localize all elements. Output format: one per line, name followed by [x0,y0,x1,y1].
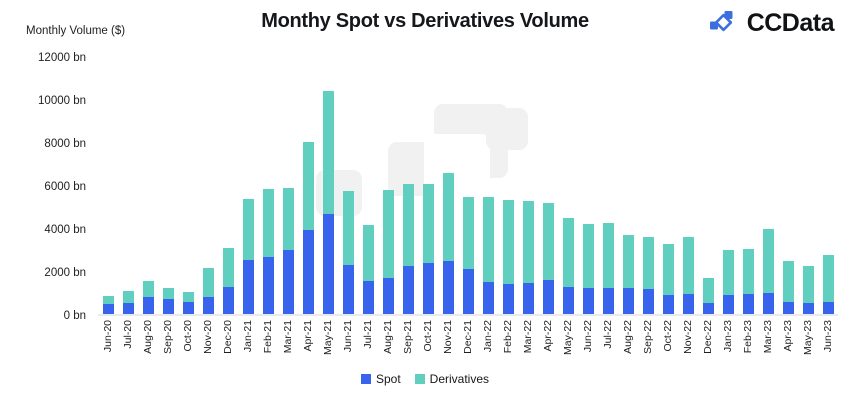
bar-stack[interactable] [443,173,454,314]
bar-segment-spot[interactable] [183,302,194,314]
bar-segment-spot[interactable] [303,230,314,314]
bar-stack[interactable] [783,261,794,314]
x-axis-tick: Sep-21 [398,320,418,372]
bar-column[interactable] [98,58,118,314]
bar-stack[interactable] [803,266,814,314]
x-axis-tick-label: Nov-21 [442,320,454,354]
bar-column[interactable] [678,58,698,314]
bar-column[interactable] [158,58,178,314]
x-axis-tick: Jun-23 [818,320,838,372]
bar-column[interactable] [518,58,538,314]
y-axis-tick-label: 6000 bn [44,181,86,193]
bar-column[interactable] [538,58,558,314]
bar-column[interactable] [238,58,258,314]
bar-segment-spot[interactable] [163,299,174,314]
bar-segment-derivatives[interactable] [123,291,134,304]
bar-segment-derivatives[interactable] [783,261,794,303]
bar-segment-spot[interactable] [543,280,554,314]
legend-item[interactable]: Derivatives [415,372,489,386]
bar-stack[interactable] [623,235,634,314]
bar-stack[interactable] [243,199,254,314]
bar-segment-derivatives[interactable] [163,288,174,299]
x-axis-tick-label: Dec-20 [222,320,234,354]
x-axis-tick-label: Sep-20 [162,320,174,354]
x-axis-tick: Aug-20 [138,320,158,372]
x-axis-tick-label: Sep-22 [642,320,654,354]
bar-column[interactable] [598,58,618,314]
x-axis-tick: Oct-22 [658,320,678,372]
x-axis-tick-label: Apr-23 [782,320,794,352]
y-axis-tick-label: 2000 bn [44,267,86,279]
y-axis-tick-label: 4000 bn [44,224,86,236]
bar-segment-spot[interactable] [223,287,234,314]
bar-stack[interactable] [823,255,834,314]
x-axis-tick-label: Dec-22 [702,320,714,354]
bar-segment-spot[interactable] [663,295,674,314]
bar-segment-spot[interactable] [203,297,214,314]
bar-segment-derivatives[interactable] [263,189,274,257]
bar-column[interactable] [478,58,498,314]
x-axis-tick: Aug-21 [378,320,398,372]
bar-segment-spot[interactable] [343,265,354,314]
x-axis-tick: Jun-20 [98,320,118,372]
x-axis-tick: Feb-22 [498,320,518,372]
bar-segment-spot[interactable] [243,260,254,314]
x-axis-tick: Feb-23 [738,320,758,372]
bar-segment-derivatives[interactable] [343,191,354,265]
bar-segment-derivatives[interactable] [563,218,574,287]
bar-segment-derivatives[interactable] [203,268,214,297]
x-axis-tick: May-23 [798,320,818,372]
x-axis-tick-label: Feb-21 [262,320,274,353]
bar-stack[interactable] [503,200,514,314]
x-axis-tick: Apr-22 [538,320,558,372]
x-axis-tick-label: Mar-22 [522,320,534,353]
legend-label: Derivatives [430,372,489,386]
bar-segment-derivatives[interactable] [763,229,774,293]
x-axis-tick-label: Oct-21 [422,320,434,352]
bar-segment-spot[interactable] [783,302,794,314]
bar-segment-derivatives[interactable] [143,281,154,297]
bar-column[interactable] [738,58,758,314]
bar-segment-spot[interactable] [443,261,454,314]
x-axis-tick-label: Aug-22 [622,320,634,354]
bar-segment-derivatives[interactable] [223,248,234,287]
x-axis-tick: May-21 [318,320,338,372]
bar-segment-derivatives[interactable] [743,249,754,294]
y-axis-tick-label: 8000 bn [44,138,86,150]
x-axis-tick-label: Aug-21 [382,320,394,354]
bar-stack[interactable] [763,229,774,314]
bar-stack[interactable] [103,296,114,314]
bar-column[interactable] [638,58,658,314]
x-axis-tick-label: Apr-21 [302,320,314,352]
x-axis-tick-label: Jun-23 [822,320,834,352]
bar-stack[interactable] [203,268,214,314]
bar-segment-spot[interactable] [503,284,514,314]
bar-segment-spot[interactable] [763,293,774,314]
x-axis-tick: Apr-21 [298,320,318,372]
bar-segment-derivatives[interactable] [683,237,694,294]
bar-segment-spot[interactable] [823,302,834,314]
bar-column[interactable] [818,58,838,314]
bar-segment-spot[interactable] [123,303,134,314]
bar-segment-derivatives[interactable] [363,225,374,280]
bar-segment-derivatives[interactable] [383,190,394,277]
legend-swatch [415,374,425,384]
x-axis-tick: Mar-22 [518,320,538,372]
ccdata-logo: CCData [708,8,834,38]
bar-segment-derivatives[interactable] [503,200,514,284]
bar-column[interactable] [298,58,318,314]
bar-column[interactable] [658,58,678,314]
x-axis-tick-label: Jul-22 [602,320,614,349]
bar-column[interactable] [778,58,798,314]
bar-segment-spot[interactable] [743,294,754,314]
bar-stack[interactable] [403,184,414,314]
bar-segment-spot[interactable] [563,287,574,314]
chart-screenshot: Monthly Volume ($) Monthy Spot vs Deriva… [0,0,850,403]
bar-stack[interactable] [523,201,534,314]
bar-stack[interactable] [363,225,374,314]
bar-segment-derivatives[interactable] [523,201,534,283]
x-axis-tick: Jun-21 [338,320,358,372]
legend-item[interactable]: Spot [361,372,401,386]
y-axis-tick-label: 12000 bn [38,52,86,64]
bar-segment-spot[interactable] [363,281,374,314]
x-axis-tick: Jan-22 [478,320,498,372]
x-axis-tick: May-22 [558,320,578,372]
x-axis-tick-label: Jun-22 [582,320,594,352]
bar-segment-spot[interactable] [483,282,494,314]
x-axis-tick: Jul-20 [118,320,138,372]
bar-stack[interactable] [263,189,274,314]
bar-segment-derivatives[interactable] [483,197,494,282]
legend-label: Spot [376,372,401,386]
bar-column[interactable] [198,58,218,314]
bar-stack[interactable] [603,223,614,314]
bar-segment-spot[interactable] [103,304,114,314]
bar-column[interactable] [618,58,638,314]
x-axis-tick: Mar-21 [278,320,298,372]
bar-segment-spot[interactable] [603,288,614,314]
x-axis-tick: Feb-21 [258,320,278,372]
bar-column[interactable] [178,58,198,314]
y-axis-tick-label: 10000 bn [38,95,86,107]
x-axis-tick: Dec-20 [218,320,238,372]
bar-segment-derivatives[interactable] [703,278,714,304]
bar-column[interactable] [418,58,438,314]
bar-stack[interactable] [323,91,334,314]
bar-segment-derivatives[interactable] [803,266,814,303]
bar-stack[interactable] [383,190,394,314]
bar-column[interactable] [698,58,718,314]
bar-stack[interactable] [563,218,574,314]
bar-column[interactable] [398,58,418,314]
bar-segment-spot[interactable] [383,278,394,314]
bar-stack[interactable] [123,291,134,314]
bar-segment-spot[interactable] [523,283,534,314]
x-axis-tick: Apr-23 [778,320,798,372]
bar-stack[interactable] [723,250,734,314]
plot-area [98,58,838,316]
bar-segment-derivatives[interactable] [443,173,454,260]
chart-legend: SpotDerivatives [0,372,850,386]
x-axis-tick-label: Feb-22 [502,320,514,353]
bar-stack[interactable] [143,281,154,314]
x-axis-tick-label: Dec-21 [462,320,474,354]
x-axis-tick-label: Nov-20 [202,320,214,354]
bar-column[interactable] [578,58,598,314]
bar-stack[interactable] [343,191,354,314]
bar-segment-derivatives[interactable] [303,142,314,229]
y-axis-tick-label: 0 bn [64,310,86,322]
x-axis-tick-label: Apr-22 [542,320,554,352]
bar-segment-derivatives[interactable] [723,250,734,295]
bar-segment-derivatives[interactable] [103,296,114,305]
x-axis-tick: Oct-20 [178,320,198,372]
bar-column[interactable] [378,58,398,314]
bar-segment-spot[interactable] [143,297,154,314]
bar-segment-spot[interactable] [423,263,434,314]
bar-stack[interactable] [663,244,674,314]
bar-segment-derivatives[interactable] [423,184,434,263]
bar-stack[interactable] [183,292,194,314]
bar-stack[interactable] [703,278,714,314]
x-axis-tick: Nov-21 [438,320,458,372]
bar-segment-spot[interactable] [323,214,334,314]
x-axis-tick-label: Nov-22 [682,320,694,354]
bar-stack[interactable] [303,142,314,314]
x-axis-tick: Jul-21 [358,320,378,372]
bar-column[interactable] [558,58,578,314]
x-axis-tick: Dec-22 [698,320,718,372]
x-axis-tick-label: Oct-22 [662,320,674,352]
bar-column[interactable] [278,58,298,314]
x-axis-tick-label: May-21 [322,320,334,355]
x-axis-tick: Aug-22 [618,320,638,372]
bar-column[interactable] [118,58,138,314]
x-axis-tick-label: Mar-21 [282,320,294,353]
bar-column[interactable] [798,58,818,314]
bar-segment-spot[interactable] [683,294,694,314]
x-axis-tick: Sep-22 [638,320,658,372]
x-axis-tick-label: Jul-21 [362,320,374,349]
x-axis-tick-label: Jun-20 [102,320,114,352]
bar-stack[interactable] [743,249,754,314]
x-axis-tick: Nov-22 [678,320,698,372]
bar-segment-derivatives[interactable] [283,188,294,250]
x-axis-tick: Oct-21 [418,320,438,372]
x-axis: Jun-20Jul-20Aug-20Sep-20Oct-20Nov-20Dec-… [98,320,838,372]
x-axis-tick-label: Oct-20 [182,320,194,352]
x-axis-tick: Jan-21 [238,320,258,372]
bar-segment-derivatives[interactable] [623,235,634,288]
x-axis-tick: Jan-23 [718,320,738,372]
bar-segment-derivatives[interactable] [183,292,194,303]
bar-segment-derivatives[interactable] [403,184,414,266]
x-axis-tick-label: Jan-22 [482,320,494,352]
bar-stack[interactable] [463,197,474,314]
bar-column[interactable] [358,58,378,314]
x-axis-tick-label: Aug-20 [142,320,154,354]
bar-stack[interactable] [423,184,434,314]
bar-column[interactable] [458,58,478,314]
bar-segment-derivatives[interactable] [823,255,834,302]
bar-column[interactable] [218,58,238,314]
bar-segment-derivatives[interactable] [583,224,594,288]
bar-column[interactable] [758,58,778,314]
x-axis-tick: Jul-22 [598,320,618,372]
bar-segment-spot[interactable] [283,250,294,314]
bar-segment-spot[interactable] [583,288,594,314]
bar-stack[interactable] [583,224,594,314]
bar-segment-derivatives[interactable] [603,223,614,288]
bar-column[interactable] [318,58,338,314]
bar-stack[interactable] [543,203,554,314]
bar-segment-spot[interactable] [643,289,654,314]
bar-column[interactable] [498,58,518,314]
bar-stack[interactable] [163,288,174,314]
bar-segment-derivatives[interactable] [663,244,674,295]
bar-series-container [98,58,838,314]
y-axis: 12000 bn10000 bn8000 bn6000 bn4000 bn200… [0,58,92,316]
bar-column[interactable] [718,58,738,314]
x-axis-baseline [98,314,838,316]
bar-stack[interactable] [483,197,494,314]
bar-segment-derivatives[interactable] [643,237,654,289]
x-axis-tick-label: Jan-21 [242,320,254,352]
bar-segment-derivatives[interactable] [243,199,254,260]
x-axis-tick-label: May-22 [562,320,574,355]
legend-swatch [361,374,371,384]
bar-segment-derivatives[interactable] [463,197,474,270]
x-axis-tick-label: Sep-21 [402,320,414,354]
logo-wordmark: CCData [747,9,834,38]
bar-segment-spot[interactable] [623,288,634,314]
bar-segment-spot[interactable] [403,266,414,314]
x-axis-tick-label: Mar-23 [762,320,774,353]
x-axis-tick: Jun-22 [578,320,598,372]
x-axis-tick: Mar-23 [758,320,778,372]
bar-segment-spot[interactable] [263,257,274,314]
bar-stack[interactable] [283,188,294,314]
ccdata-diamond-icon [708,8,738,38]
bar-stack[interactable] [223,248,234,314]
bar-stack[interactable] [683,237,694,314]
x-axis-tick-label: Jan-23 [722,320,734,352]
bar-segment-spot[interactable] [723,295,734,314]
bar-column[interactable] [258,58,278,314]
bar-segment-spot[interactable] [803,303,814,314]
bar-segment-spot[interactable] [463,269,474,314]
bar-column[interactable] [138,58,158,314]
x-axis-tick-label: Feb-23 [742,320,754,353]
x-axis-tick-label: Jul-20 [122,320,134,349]
bar-stack[interactable] [643,237,654,314]
x-axis-tick: Sep-20 [158,320,178,372]
bar-segment-derivatives[interactable] [323,91,334,214]
bar-segment-spot[interactable] [703,303,714,314]
x-axis-tick-label: Jun-21 [342,320,354,352]
x-axis-tick: Dec-21 [458,320,478,372]
bar-column[interactable] [338,58,358,314]
bar-column[interactable] [438,58,458,314]
x-axis-tick: Nov-20 [198,320,218,372]
bar-segment-derivatives[interactable] [543,203,554,280]
x-axis-tick-label: May-23 [802,320,814,355]
